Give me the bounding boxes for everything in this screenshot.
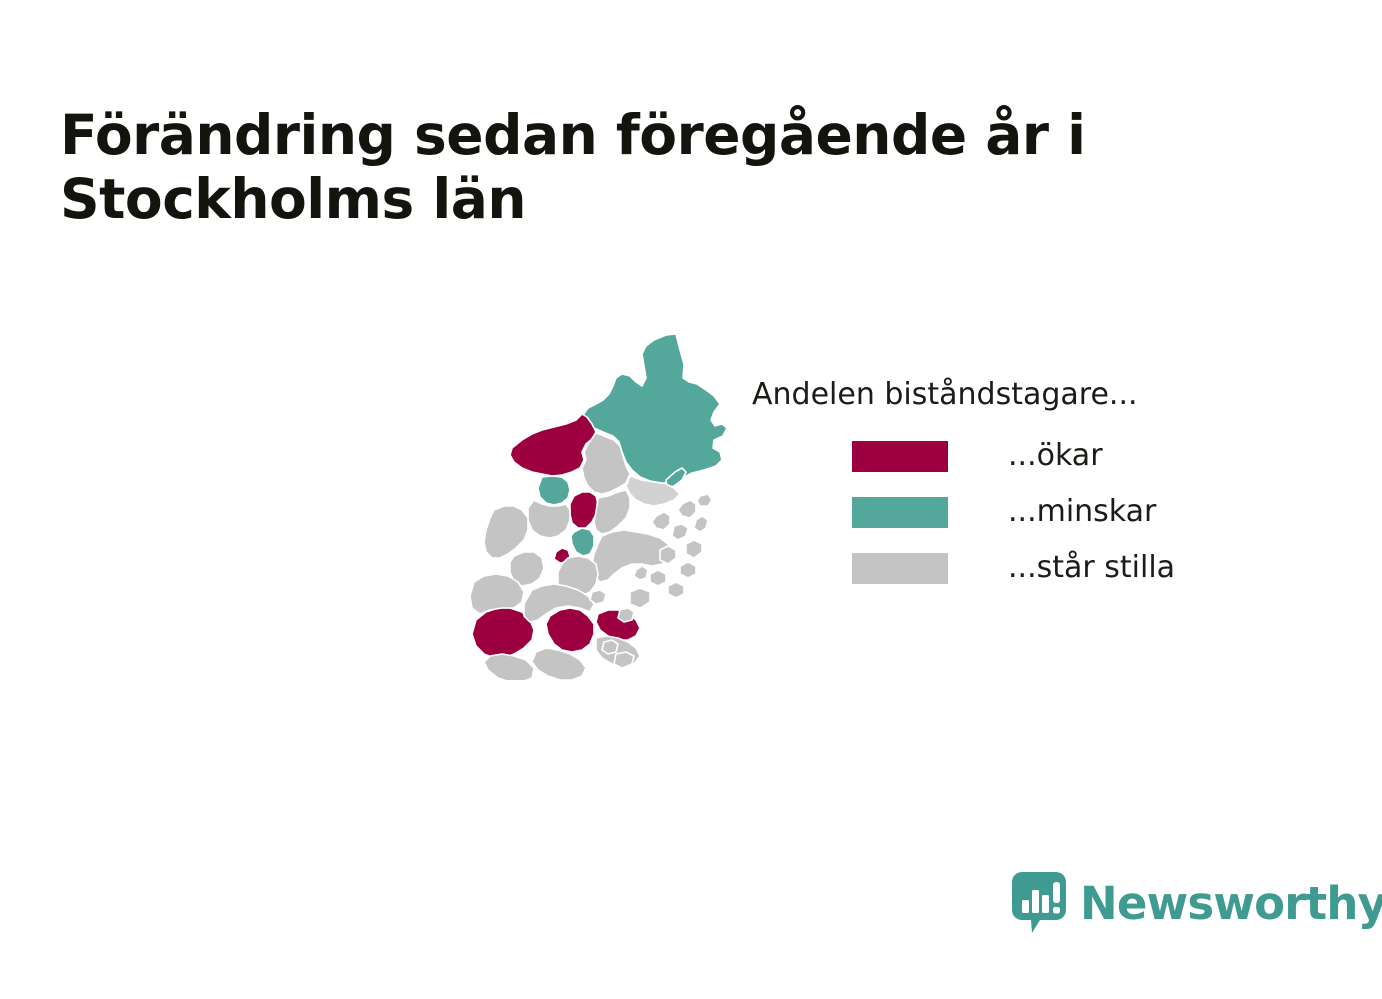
logo-wordmark: Newsworthy [1080, 881, 1382, 926]
map-island-o [614, 652, 634, 668]
map-island-l [602, 640, 618, 654]
choropleth-map [470, 320, 760, 680]
legend-label-increase: ...ökar [1008, 441, 1103, 471]
legend-item-unchanged[interactable]: ...står stilla [752, 540, 1292, 596]
map-island-p [590, 590, 606, 604]
map-region-solna[interactable] [571, 528, 594, 556]
newsworthy-bubble-chart-icon [1012, 872, 1066, 934]
map-region-upplands-vasby[interactable] [538, 476, 570, 505]
map-region-nykvarn[interactable] [470, 574, 524, 614]
map-island-f [660, 546, 676, 564]
map-island-n [697, 494, 712, 506]
map-island-b [652, 512, 670, 530]
map-region-ekero[interactable] [484, 506, 528, 558]
legend-swatch-decrease [852, 497, 948, 528]
legend-swatch-increase [852, 441, 948, 472]
newsworthy-logo[interactable]: Newsworthy [1012, 872, 1382, 934]
map-island-h [650, 570, 666, 586]
map-svg [470, 320, 760, 680]
map-island-i [668, 582, 684, 598]
legend-label-unchanged: ...står stilla [1008, 553, 1175, 583]
legend-item-decrease[interactable]: ...minskar [752, 484, 1292, 540]
map-region-taby[interactable] [594, 490, 630, 534]
map-island-a [678, 500, 696, 518]
map-island-j [630, 588, 650, 608]
legend-label-decrease: ...minskar [1008, 497, 1156, 527]
map-region-nynashamn[interactable] [532, 648, 586, 680]
map-island-k [618, 608, 634, 622]
infographic-canvas: Förändring sedan föregående år i Stockho… [0, 0, 1382, 999]
map-region-jarfalla[interactable] [528, 500, 570, 538]
page-title: Förändring sedan föregående år i Stockho… [60, 103, 1170, 232]
map-region-south-gray[interactable] [484, 654, 534, 680]
map-island-d [694, 516, 708, 532]
legend-swatch-unchanged [852, 553, 948, 584]
map-legend: Andelen biståndstagare... ...ökar ...min… [752, 378, 1292, 596]
map-island-g [680, 562, 696, 578]
map-island-c [672, 524, 688, 540]
legend-title: Andelen biståndstagare... [752, 378, 1292, 411]
map-island-e [686, 540, 702, 558]
map-island-m [634, 566, 648, 580]
map-region-huddinge[interactable] [546, 608, 594, 652]
legend-item-increase[interactable]: ...ökar [752, 428, 1292, 484]
